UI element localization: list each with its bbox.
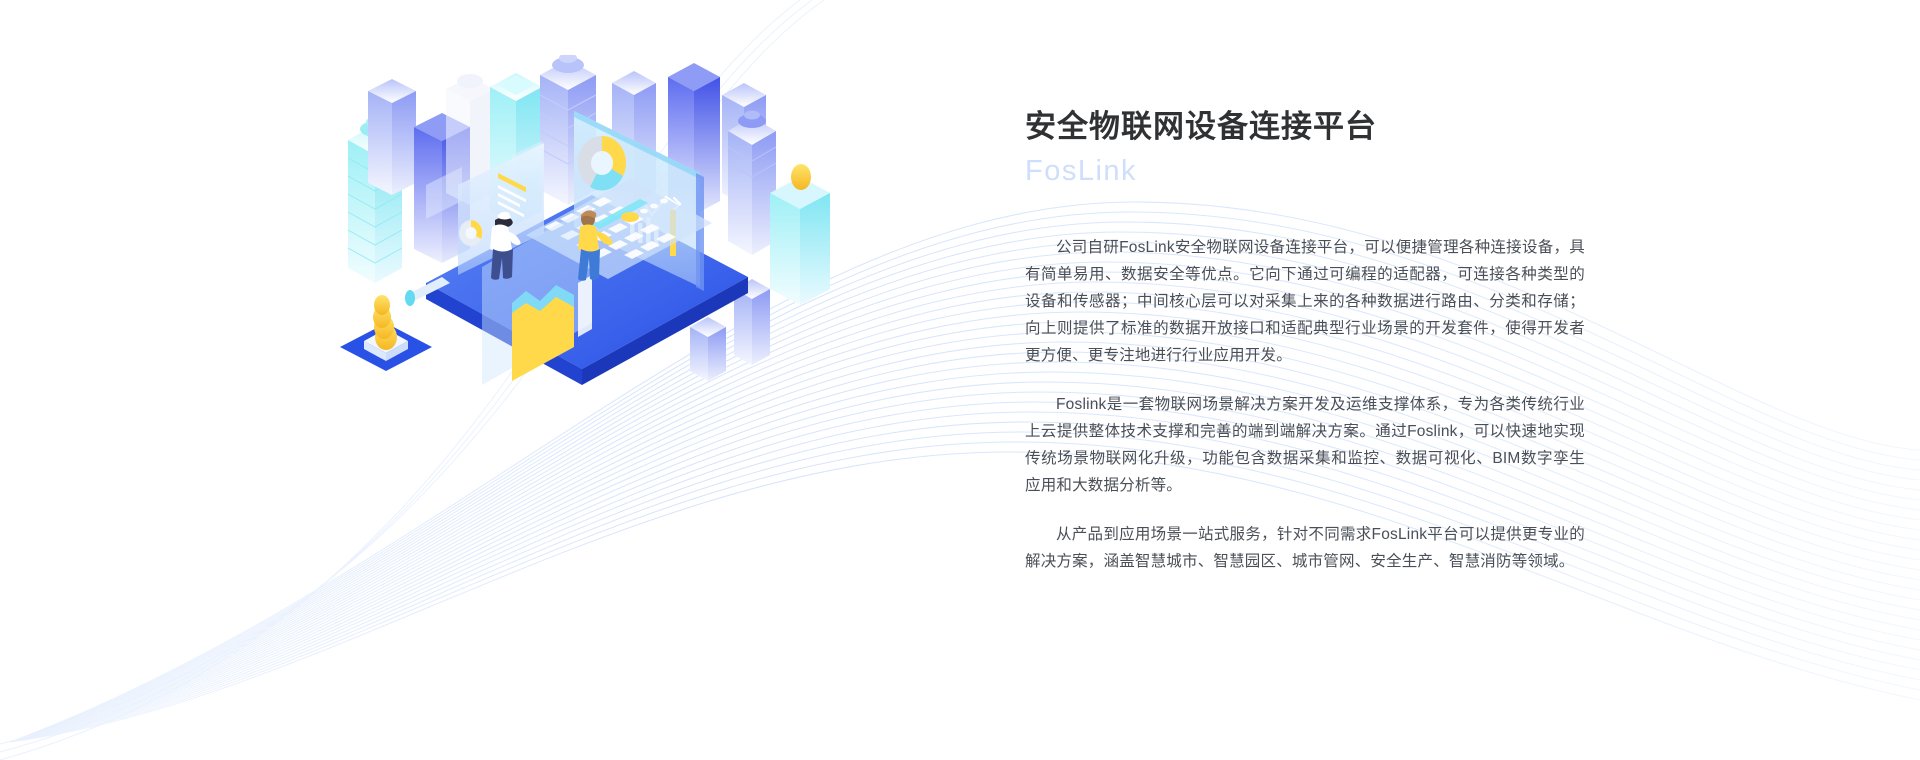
paragraph-2: Foslink是一套物联网场景解决方案开发及运维支撑体系，专为各类传统行业上云提… [1025, 391, 1585, 499]
coin-stack [340, 295, 432, 371]
iot-platform-illustration [330, 55, 850, 385]
background-wave-lines [0, 0, 1920, 760]
product-name-subtitle: FosLink [1025, 153, 1585, 191]
hero-page: 安全物联网设备连接平台 FosLink 公司自研FosLink安全物联网设备连接… [0, 0, 1920, 760]
description-body: 公司自研FosLink安全物联网设备连接平台，可以便捷管理各种连接设备，具有简单… [1025, 234, 1585, 575]
paragraph-3: 从产品到应用场景一站式服务，针对不同需求FosLink平台可以提供更专业的解决方… [1025, 521, 1585, 575]
page-title: 安全物联网设备连接平台 [1025, 108, 1585, 147]
hero-text-column: 安全物联网设备连接平台 FosLink 公司自研FosLink安全物联网设备连接… [1025, 108, 1585, 575]
paragraph-1: 公司自研FosLink安全物联网设备连接平台，可以便捷管理各种连接设备，具有简单… [1025, 234, 1585, 369]
